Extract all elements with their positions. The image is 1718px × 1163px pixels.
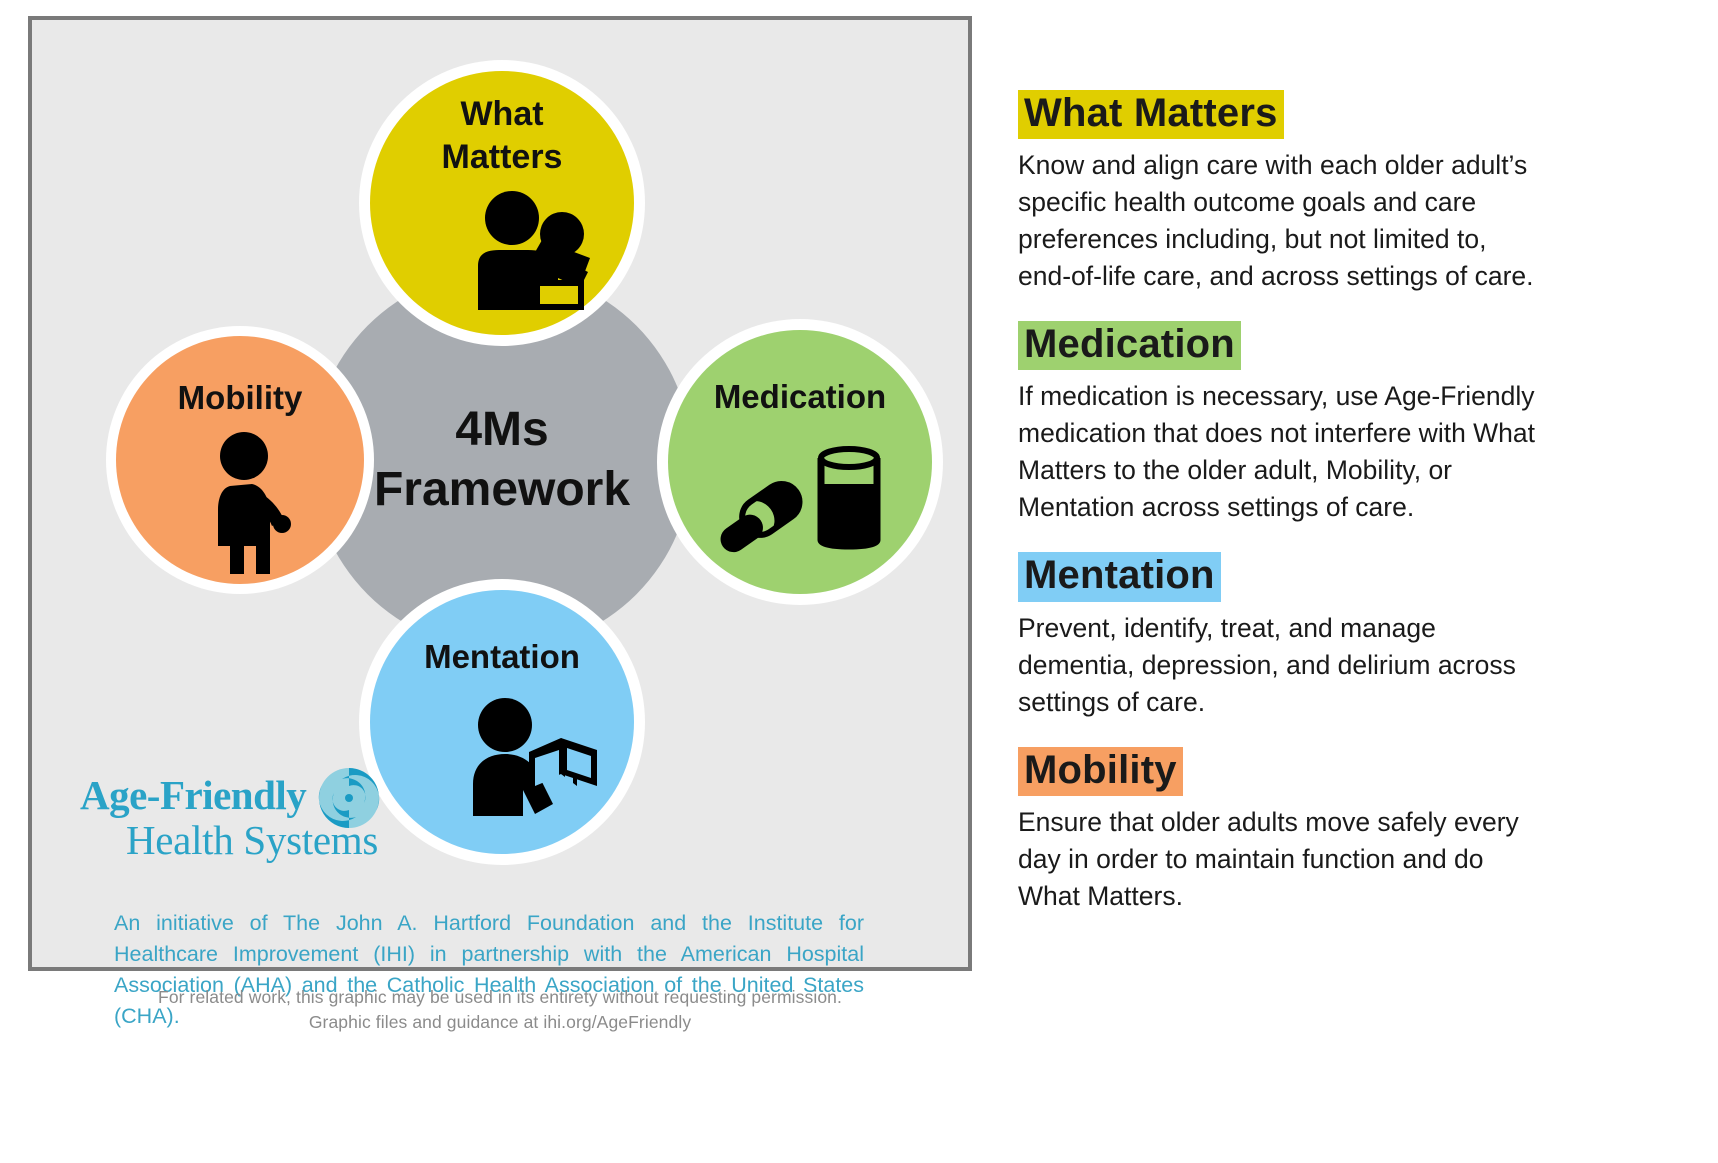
swirl-icon	[318, 767, 380, 829]
definition-what-matters: What Matters Know and align care with ea…	[1018, 90, 1578, 295]
what-matters-label-line2: Matters	[442, 138, 563, 176]
definition-body-what-matters: Know and align care with each older adul…	[1018, 147, 1578, 295]
definitions-column: What Matters Know and align care with ea…	[1018, 90, 1578, 915]
medication-label: Medication	[714, 378, 886, 415]
definition-heading-mobility: Mobility	[1018, 747, 1183, 796]
mentation-label: Mentation	[424, 638, 580, 675]
definition-mobility: Mobility Ensure that older adults move s…	[1018, 747, 1578, 915]
definition-heading-what-matters: What Matters	[1018, 90, 1284, 139]
definition-body-medication: If medication is necessary, use Age-Frie…	[1018, 378, 1578, 526]
definition-body-mentation: Prevent, identify, treat, and manage dem…	[1018, 610, 1578, 721]
definition-body-mobility: Ensure that older adults move safely eve…	[1018, 804, 1578, 915]
footer-caption: For related work, this graphic may be us…	[28, 985, 972, 1035]
framework-diagram-panel: What Matters Medication	[28, 16, 972, 971]
definition-medication: Medication If medication is necessary, u…	[1018, 321, 1578, 526]
age-friendly-health-systems-logo: Age-Friendly Health Systems	[52, 755, 412, 880]
center-label-line2: Framework	[374, 463, 630, 516]
footer-line-1: For related work, this graphic may be us…	[28, 985, 972, 1010]
what-matters-label-line1: What	[460, 95, 543, 133]
footer-line-2: Graphic files and guidance at ihi.org/Ag…	[28, 1010, 972, 1035]
medication-circle[interactable]	[668, 330, 932, 594]
definition-heading-mentation: Mentation	[1018, 552, 1221, 601]
definition-heading-medication: Medication	[1018, 321, 1241, 370]
definition-mentation: Mentation Prevent, identify, treat, and …	[1018, 552, 1578, 720]
mobility-label: Mobility	[178, 379, 303, 416]
center-label-line1: 4Ms	[455, 403, 548, 456]
